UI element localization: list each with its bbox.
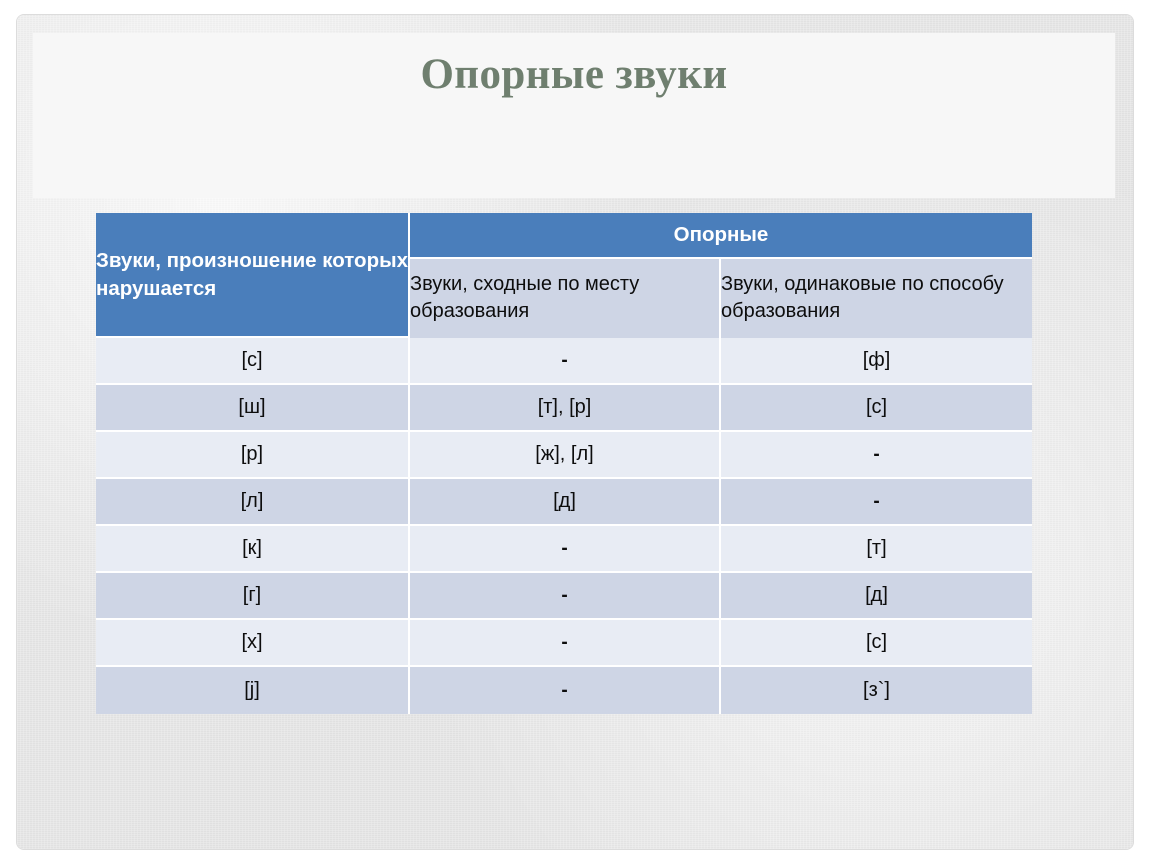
table-row: [к]-[т] bbox=[96, 526, 1032, 573]
table-body: [с]-[ф][ш][т], [р][с][р][ж], [л]-[л][д]-… bbox=[96, 338, 1032, 714]
cell-same-place: [д] bbox=[410, 479, 721, 526]
cell-same-place: - bbox=[410, 573, 721, 620]
header-same-manner: Звуки, одинаковые по способу образования bbox=[721, 259, 1032, 338]
cell-same-place: - bbox=[410, 338, 721, 385]
cell-same-place: [ж], [л] bbox=[410, 432, 721, 479]
title-placeholder: Опорные звуки bbox=[33, 33, 1115, 198]
cell-disturbed-sound: [с] bbox=[96, 338, 410, 385]
header-same-place: Звуки, сходные по месту образования bbox=[410, 259, 721, 338]
page-title: Опорные звуки bbox=[420, 50, 727, 99]
sounds-table: Звуки, произношение которых нарушается О… bbox=[96, 213, 1032, 714]
table-row: [с]-[ф] bbox=[96, 338, 1032, 385]
table-row: [х]-[с] bbox=[96, 620, 1032, 667]
table-row: [г]-[д] bbox=[96, 573, 1032, 620]
cell-same-place: [т], [р] bbox=[410, 385, 721, 432]
table-header: Звуки, произношение которых нарушается О… bbox=[96, 213, 1032, 338]
cell-same-manner: - bbox=[721, 479, 1032, 526]
cell-same-manner: [с] bbox=[721, 385, 1032, 432]
cell-disturbed-sound: [к] bbox=[96, 526, 410, 573]
table-row: [р][ж], [л]- bbox=[96, 432, 1032, 479]
cell-disturbed-sound: [л] bbox=[96, 479, 410, 526]
cell-disturbed-sound: [j] bbox=[96, 667, 410, 714]
cell-same-place: - bbox=[410, 526, 721, 573]
header-reference-group: Опорные bbox=[410, 213, 1032, 259]
table-row: [j]-[з`] bbox=[96, 667, 1032, 714]
cell-same-manner: [д] bbox=[721, 573, 1032, 620]
cell-same-manner: [з`] bbox=[721, 667, 1032, 714]
table-row: [л][д]- bbox=[96, 479, 1032, 526]
cell-same-place: - bbox=[410, 620, 721, 667]
cell-same-manner: - bbox=[721, 432, 1032, 479]
cell-disturbed-sound: [ш] bbox=[96, 385, 410, 432]
cell-disturbed-sound: [х] bbox=[96, 620, 410, 667]
table-header-row-1: Звуки, произношение которых нарушается О… bbox=[96, 213, 1032, 259]
table-row: [ш][т], [р][с] bbox=[96, 385, 1032, 432]
slide-canvas: Опорные звуки Звуки, произношение которы… bbox=[17, 15, 1133, 849]
cell-disturbed-sound: [р] bbox=[96, 432, 410, 479]
cell-same-manner: [с] bbox=[721, 620, 1032, 667]
cell-disturbed-sound: [г] bbox=[96, 573, 410, 620]
header-disturbed-sounds: Звуки, произношение которых нарушается bbox=[96, 213, 410, 338]
sounds-table-container: Звуки, произношение которых нарушается О… bbox=[96, 213, 1032, 714]
cell-same-manner: [т] bbox=[721, 526, 1032, 573]
cell-same-manner: [ф] bbox=[721, 338, 1032, 385]
cell-same-place: - bbox=[410, 667, 721, 714]
